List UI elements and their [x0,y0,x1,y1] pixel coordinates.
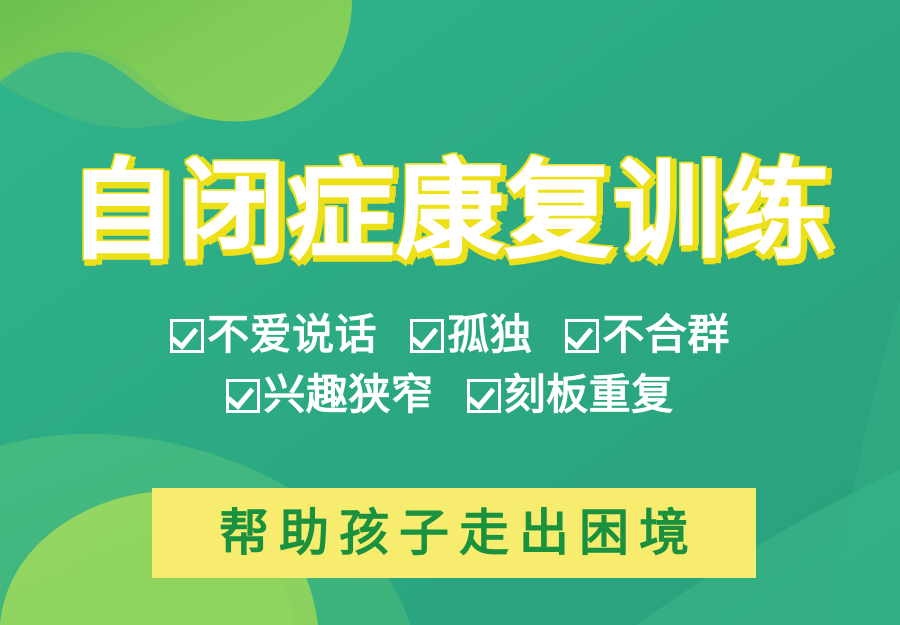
symptom-line-2: 兴趣狭窄 刻板重复 [0,365,900,425]
symptom-item: 刻板重复 [467,365,674,425]
symptom-item: 兴趣狭窄 [226,365,433,425]
symptom-checklist: 不爱说话 孤独 不合群 兴趣狭窄 刻板重复 [0,305,900,425]
symptom-label: 不爱说话 [207,310,377,359]
symptom-item: 不爱说话 [170,305,377,365]
checked-box-icon [226,379,260,413]
symptom-item: 孤独 [410,305,532,365]
symptom-line-1: 不爱说话 孤独 不合群 [0,305,900,365]
poster-canvas: 自闭症康复训练 不爱说话 孤独 不合群 [0,0,900,625]
checked-box-icon [170,319,204,353]
symptom-label: 刻板重复 [504,370,674,419]
title-block: 自闭症康复训练 [0,152,900,273]
poster-title: 自闭症康复训练 [68,152,831,273]
checked-box-icon [410,319,444,353]
checked-box-icon [565,319,599,353]
symptom-item: 不合群 [565,305,730,365]
symptom-label: 孤独 [447,310,532,359]
symptom-label: 兴趣狭窄 [263,370,433,419]
symptom-label: 不合群 [602,310,730,359]
cta-banner: 帮助孩子走出困境 [152,488,756,578]
cta-banner-text: 帮助孩子走出困境 [209,508,699,558]
checked-box-icon [467,379,501,413]
